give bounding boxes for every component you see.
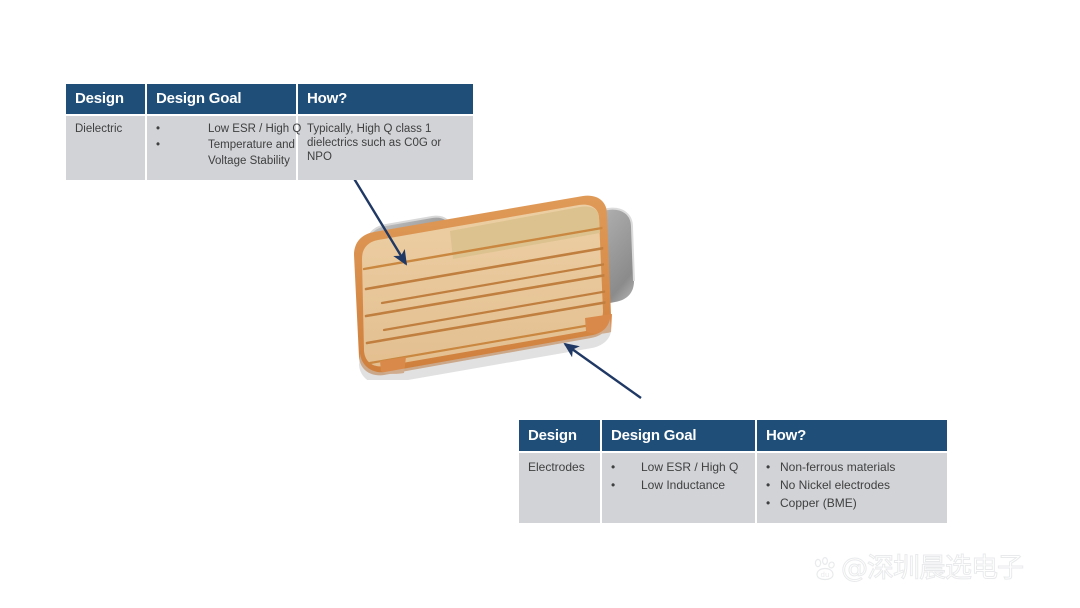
table-header-row: Design Design Goal How?	[519, 420, 947, 452]
how-bullet-list: •Non-ferrous materials •No Nickel electr…	[766, 459, 938, 511]
bullet-spacer	[156, 154, 208, 168]
list-item: •Temperature and	[156, 138, 287, 152]
bullet-marker: •	[156, 122, 208, 136]
how-text-line: Typically, High Q class 1	[307, 122, 464, 136]
goal-bullet-list: •Low ESR / High Q •Low Inductance	[611, 459, 746, 493]
list-item: •Low ESR / High Q	[611, 459, 746, 475]
list-item: •Non-ferrous materials	[766, 459, 938, 475]
dielectric-spec-table: Design Design Goal How? Dielectric •Low …	[66, 84, 473, 180]
cell-how: Typically, High Q class 1 dielectrics su…	[297, 115, 473, 180]
header-design-goal: Design Goal	[601, 420, 756, 452]
list-item: •Copper (BME)	[766, 495, 938, 511]
how-text-line: NPO	[307, 150, 464, 164]
how-text: Non-ferrous materials	[780, 459, 895, 475]
table-header-row: Design Design Goal How?	[66, 84, 473, 115]
arrow-to-dielectric-layer	[350, 172, 406, 264]
cell-design: Electrodes	[519, 452, 601, 523]
goal-bullet-list: •Low ESR / High Q •Temperature and Volta…	[156, 122, 287, 168]
bullet-marker: •	[766, 495, 780, 511]
cell-design-goal: •Low ESR / High Q •Low Inductance	[601, 452, 756, 523]
bullet-marker: •	[611, 477, 641, 493]
header-how: How?	[297, 84, 473, 115]
goal-text: Low ESR / High Q	[641, 459, 738, 475]
goal-text: Voltage Stability	[208, 154, 290, 168]
cell-how: •Non-ferrous materials •No Nickel electr…	[756, 452, 947, 523]
goal-text: Temperature and	[208, 138, 295, 152]
design-value: Electrodes	[528, 460, 585, 474]
header-how: How?	[756, 420, 947, 452]
how-text-line: dielectrics such as C0G or	[307, 136, 464, 150]
list-item: •Low ESR / High Q	[156, 122, 287, 136]
how-text: No Nickel electrodes	[780, 477, 890, 493]
arrow-to-electrode-layer	[565, 344, 641, 398]
goal-text: Low ESR / High Q	[208, 122, 301, 136]
bullet-marker: •	[766, 477, 780, 493]
cell-design-goal: •Low ESR / High Q •Temperature and Volta…	[146, 115, 297, 180]
header-design: Design	[66, 84, 146, 115]
electrodes-spec-table: Design Design Goal How? Electrodes •Low …	[519, 420, 947, 523]
goal-text: Low Inductance	[641, 477, 725, 493]
cell-design: Dielectric	[66, 115, 146, 180]
table-row: Dielectric •Low ESR / High Q •Temperatur…	[66, 115, 473, 180]
list-item: •Low Inductance	[611, 477, 746, 493]
table-row: Electrodes •Low ESR / High Q •Low Induct…	[519, 452, 947, 523]
list-item-continuation: Voltage Stability	[156, 154, 287, 168]
header-design: Design	[519, 420, 601, 452]
bullet-marker: •	[766, 459, 780, 475]
design-value: Dielectric	[75, 123, 122, 135]
how-text: Copper (BME)	[780, 495, 857, 511]
slide-canvas: Design Design Goal How? Dielectric •Low …	[0, 0, 1080, 608]
bullet-marker: •	[611, 459, 641, 475]
header-design-goal: Design Goal	[146, 84, 297, 115]
bullet-marker: •	[156, 138, 208, 152]
list-item: •No Nickel electrodes	[766, 477, 938, 493]
